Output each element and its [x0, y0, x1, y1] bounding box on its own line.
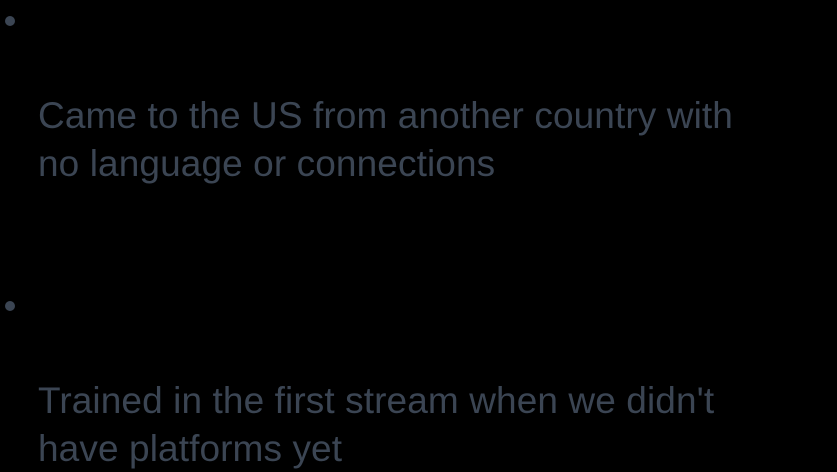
bullet-dot-icon [5, 16, 15, 26]
bullet-list: Came to the US from another country with… [0, 0, 837, 472]
list-item-text: Came to the US from another country with… [38, 92, 837, 188]
list-item: Came to the US from another country with… [0, 0, 837, 236]
list-item-text: Trained in the first stream when we didn… [38, 377, 837, 472]
bullet-dot-icon [5, 301, 15, 311]
slide-canvas: Came to the US from another country with… [0, 0, 837, 472]
list-item: Trained in the first stream when we didn… [0, 281, 837, 472]
